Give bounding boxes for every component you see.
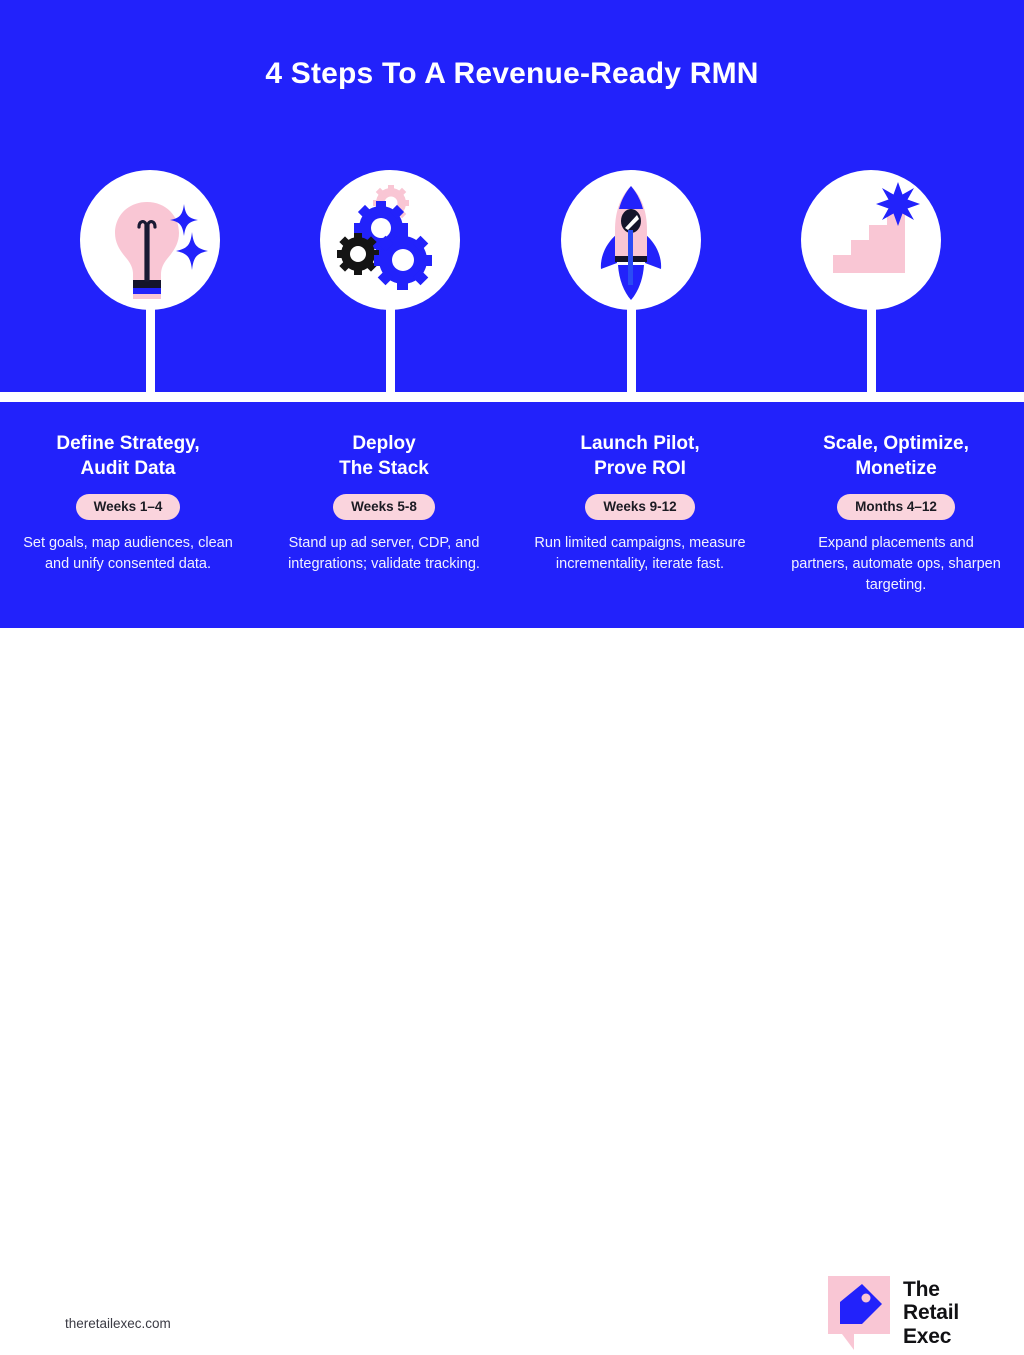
gears-icon [320, 170, 460, 310]
step-card-1: Define Strategy, Audit Data Weeks 1–4 Se… [0, 402, 256, 628]
connector-stem-3 [627, 300, 636, 402]
step-icon-circle-3 [561, 170, 701, 310]
footer: theretailexec.com The Retail Exec [0, 628, 1024, 759]
price-tag-speech-bubble-logo-icon [828, 1276, 890, 1350]
stairs-star-icon [801, 170, 941, 310]
step-heading: Define Strategy, Audit Data [20, 431, 236, 482]
step-card-4: Scale, Optimize, Monetize Months 4–12 Ex… [768, 402, 1024, 628]
step-icon-circle-4 [801, 170, 941, 310]
step-heading: Launch Pilot, Prove ROI [532, 431, 748, 482]
step-card-3: Launch Pilot, Prove ROI Weeks 9-12 Run l… [512, 402, 768, 628]
brand-logo: The Retail Exec [828, 1276, 959, 1350]
step-timeframe-badge: Weeks 1–4 [76, 494, 181, 521]
footer-website-url: theretailexec.com [65, 1316, 171, 1331]
brand-line-1: The [903, 1278, 959, 1302]
rocket-icon [561, 170, 701, 310]
step-icon-circle-1 [80, 170, 220, 310]
steps-list: Define Strategy, Audit Data Weeks 1–4 Se… [0, 402, 1024, 628]
step-card-2: Deploy The Stack Weeks 5-8 Stand up ad s… [256, 402, 512, 628]
brand-line-3: Exec [903, 1325, 959, 1349]
step-timeframe-badge: Weeks 5-8 [333, 494, 435, 521]
divider-band [0, 392, 1024, 402]
infographic-poster: 4 Steps To A Revenue-Ready RMN [0, 0, 1024, 759]
connector-stem-2 [386, 300, 395, 402]
step-timeframe-badge: Weeks 9-12 [585, 494, 694, 521]
step-description: Set goals, map audiences, clean and unif… [20, 533, 236, 575]
step-timeframe-badge: Months 4–12 [837, 494, 955, 521]
lightbulb-sparkle-icon [80, 170, 220, 310]
connector-stem-4 [867, 300, 876, 402]
step-heading: Scale, Optimize, Monetize [788, 431, 1004, 482]
step-description: Stand up ad server, CDP, and integration… [276, 533, 492, 575]
connector-stem-1 [146, 300, 155, 402]
step-description: Run limited campaigns, measure increment… [532, 533, 748, 575]
step-description: Expand placements and partners, automate… [788, 533, 1004, 596]
brand-line-2: Retail [903, 1301, 959, 1325]
step-heading: Deploy The Stack [276, 431, 492, 482]
step-icon-circle-2 [320, 170, 460, 310]
bottom-panel: Define Strategy, Audit Data Weeks 1–4 Se… [0, 402, 1024, 628]
page-title: 4 Steps To A Revenue-Ready RMN [0, 57, 1024, 91]
brand-wordmark: The Retail Exec [903, 1278, 959, 1349]
